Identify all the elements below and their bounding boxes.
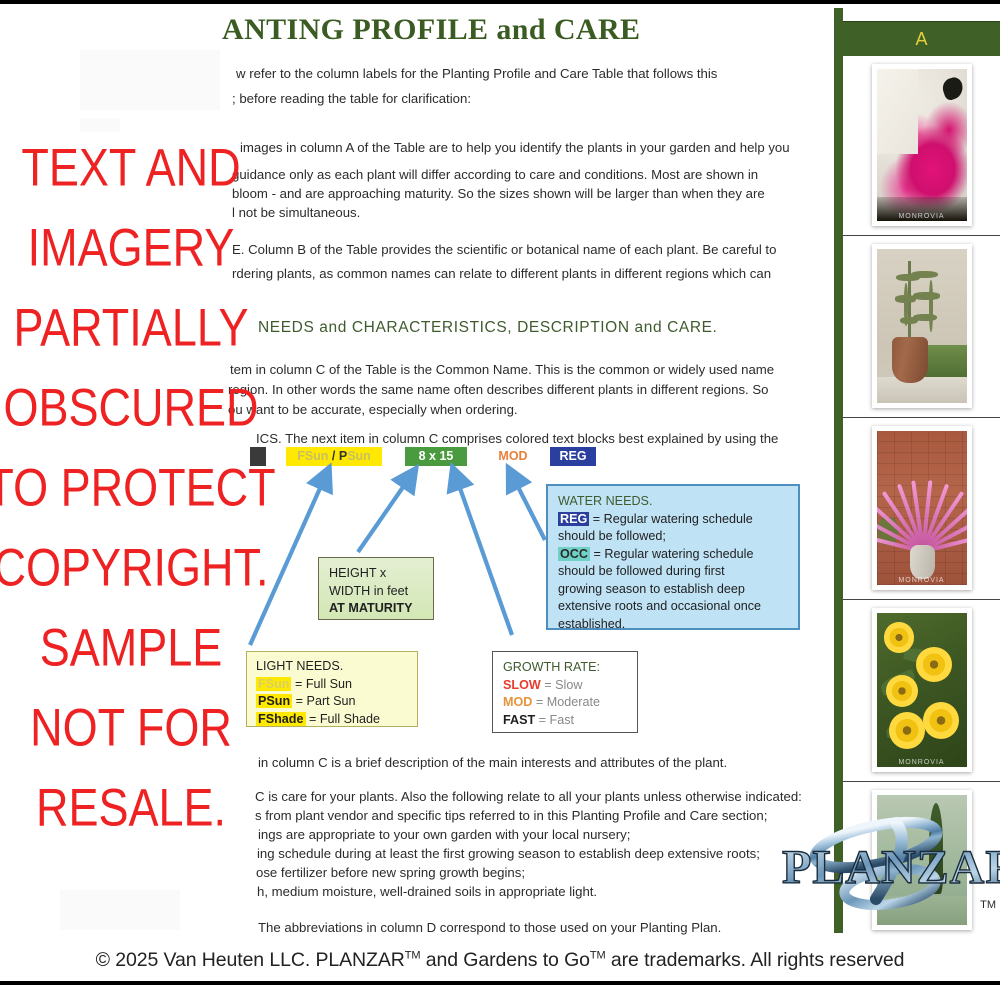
light-needs-title: LIGHT NEEDS. [256,658,417,676]
footer-copyright: © 2025 Van Heuten LLC. PLANZARTM and Gar… [0,940,1000,980]
badge-psun-sun: Sun [347,449,371,463]
sidebar-rail [834,8,843,933]
growth-row-slow: SLOW = Slow [503,677,637,695]
section-a-line-4: l not be simultaneous. [232,203,360,222]
fsun-tag: FSun [256,677,291,691]
footer-prefix: © 2025 Van Heuten LLC. PLANZAR [96,949,405,971]
photo-frame-3: MONROVIA [872,426,972,590]
sidebar-cell-2[interactable] [843,236,1000,418]
badge-separator: / [328,449,338,463]
water-occ-line-4: established. [558,616,790,634]
water-occ-row: OCC = Regular watering schedule [558,546,790,564]
growth-row-fast: FAST = Fast [503,712,637,730]
footer-text: © 2025 Van Heuten LLC. PLANZARTM and Gar… [96,949,905,972]
occ-text: = Regular watering schedule [590,547,753,561]
mod-text: = Moderate [532,695,600,709]
badge-light-needs: FSun / PSun [286,447,382,466]
photo-frame-1: MONROVIA [872,64,972,226]
slow-tag: SLOW [503,678,541,692]
photo-yellow-daisies: MONROVIA [877,613,967,767]
section-c-line-1: tem in column C of the Table is the Comm… [230,360,774,379]
section-b-line-1: E. Column B of the Table provides the sc… [232,240,776,259]
sidebar-cell-5[interactable] [843,782,1000,933]
water-reg-row2: should be followed; [558,528,790,546]
section-d-line-1: in column C is a brief description of th… [258,753,727,772]
psun-text: = Part Sun [292,694,355,708]
photo-frame-5 [872,790,972,930]
fshade-text: = Full Shade [306,712,381,726]
section-c-line-3: ou want to be accurate, especially when … [228,400,518,419]
photo-credit-4: MONROVIA [877,759,967,766]
care-line-2: s from plant vendor and specific tips re… [255,806,767,825]
growth-row-mod: MOD = Moderate [503,694,637,712]
fsun-text: = Full Sun [291,677,352,691]
column-a-sidebar: A MONROVIA [834,8,1000,933]
badge-size: 8 x 15 [405,447,467,466]
growth-rate-title: GROWTH RATE: [503,659,637,677]
badge-growth-rate: MOD [490,447,536,466]
water-occ-line-3: extensive roots and occasional once [558,598,790,616]
badge-fsun-text: FSun [297,449,328,463]
mod-tag: MOD [503,695,532,709]
badge-psun-p: P [339,449,347,463]
footer-tm-1: TM [405,949,421,961]
sidebar-cell-1[interactable]: MONROVIA [843,56,1000,236]
callout-light-needs: LIGHT NEEDS. FSun = Full Sun PSun = Part… [246,651,418,727]
water-occ-line-1: should be followed during first [558,563,790,581]
photo-pink-cordyline: MONROVIA [877,431,967,585]
callout-water-needs: WATER NEEDS. REG = Regular watering sche… [546,484,800,630]
section-a-line-2: guidance only as each plant will differ … [232,165,758,184]
height-line-2: WIDTH in feet [329,583,433,601]
height-line-3: AT MATURITY [329,600,433,618]
intro-line-2: ; before reading the table for clarifica… [232,89,471,108]
sidebar-cell-3[interactable]: MONROVIA [843,418,1000,600]
care-line-6: h, medium moisture, well-drained soils i… [257,882,597,901]
light-row-fshade: FShade = Full Shade [256,711,417,729]
photo-credit-3: MONROVIA [877,577,967,584]
light-row-fsun: FSun = Full Sun [256,676,417,694]
callout-growth-rate: GROWTH RATE: SLOW = Slow MOD = Moderate … [492,651,638,733]
care-line-3: ings are appropriate to your own garden … [258,825,630,844]
reg-text: = Regular watering schedule [589,512,752,526]
photo-credit-1: MONROVIA [877,213,967,220]
section-a-line-3: bloom - and are approaching maturity. So… [232,184,765,203]
photo-frame-4: MONROVIA [872,608,972,772]
intro-line-1: w refer to the column labels for the Pla… [236,64,717,83]
callout-height-width: HEIGHT x WIDTH in feet AT MATURITY [318,557,434,620]
slow-text: = Slow [541,678,583,692]
document-body: ANTING PROFILE and CARE w refer to the c… [0,0,830,940]
water-occ-line-2: growing season to establish deep [558,581,790,599]
arrow-light-needs [250,477,325,645]
badge-common-name [250,447,266,466]
photo-frame-2 [872,244,972,408]
fast-tag: FAST [503,713,535,727]
psun-tag: PSun [256,694,292,708]
badge-water-needs: REG [550,447,596,466]
photo-bougainvillea: MONROVIA [877,69,967,221]
photo-weeping-conifer [877,249,967,403]
height-line-1: HEIGHT x [329,565,433,583]
fshade-tag: FShade [256,712,306,726]
fast-text: = Fast [535,713,574,727]
water-needs-title: WATER NEEDS. [558,493,790,511]
care-line-4: ing schedule during at least the first g… [257,844,760,863]
page-edge-bottom [0,981,1000,985]
arrow-water-needs [513,477,545,540]
section-abbrev: The abbreviations in column D correspond… [258,918,721,937]
footer-suffix: are trademarks. All rights reserved [606,949,905,971]
occ-tag: OCC [558,547,590,561]
section-a-line-1: images in column A of the Table are to h… [240,138,790,157]
care-line-1: C is care for your plants. Also the foll… [255,787,802,806]
arrow-growth-rate [456,477,512,635]
section-c-heading: NEEDS and CHARACTERISTICS, DESCRIPTION a… [258,319,717,337]
sidebar-cell-4[interactable]: MONROVIA [843,600,1000,782]
page-title: ANTING PROFILE and CARE [222,13,640,47]
water-reg-row: REG = Regular watering schedule [558,511,790,529]
photo-cypress-landscape [877,795,967,925]
section-characteristics: ICS. The next item in column C comprises… [256,429,778,448]
care-line-5: ose fertilizer before new spring growth … [256,863,525,882]
column-a-header: A [843,21,1000,57]
section-c-line-2: region. In other words the same name oft… [228,380,769,399]
light-row-psun: PSun = Part Sun [256,693,417,711]
reg-tag: REG [558,512,589,526]
arrow-height-width [358,477,410,552]
section-b-line-2: rdering plants, as common names can rela… [232,264,771,283]
footer-middle: and Gardens to Go [420,949,589,971]
footer-tm-2: TM [590,949,606,961]
